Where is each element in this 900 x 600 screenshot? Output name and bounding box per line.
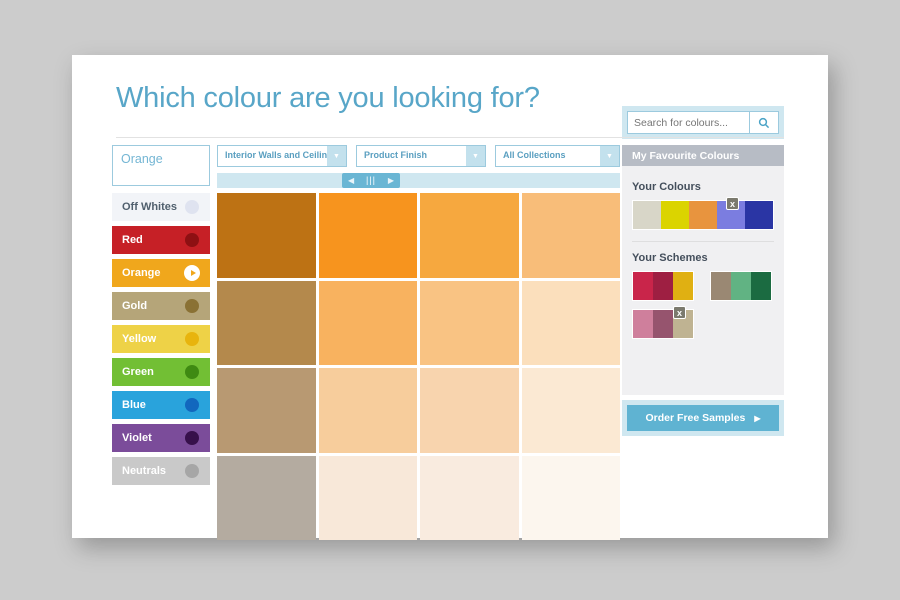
scheme-colour-swatch <box>633 272 653 300</box>
arrow-right-icon[interactable]: ▶ <box>388 177 394 185</box>
remove-scheme-button[interactable]: x <box>673 306 686 319</box>
order-free-samples-label: Order Free Samples <box>646 412 746 424</box>
dropdown-collections[interactable]: All Collections ▼ <box>495 145 620 167</box>
favourite-colour-swatch[interactable] <box>689 201 717 229</box>
colour-swatch[interactable] <box>420 193 519 278</box>
header: Which colour are you looking for? <box>116 80 784 142</box>
remove-colour-button[interactable]: x <box>726 197 739 210</box>
category-colour-dot <box>185 200 199 214</box>
category-item-violet[interactable]: Violet <box>112 424 210 452</box>
your-colours-strip[interactable] <box>632 200 774 230</box>
category-item-blue[interactable]: Blue <box>112 391 210 419</box>
category-colour-dot <box>185 233 199 247</box>
colour-swatch[interactable] <box>522 193 621 278</box>
scheme-colour-swatch <box>673 272 693 300</box>
category-item-gold[interactable]: Gold <box>112 292 210 320</box>
colour-swatch[interactable] <box>319 281 418 366</box>
colour-swatch[interactable] <box>420 281 519 366</box>
category-item-green[interactable]: Green <box>112 358 210 386</box>
category-item-label: Neutrals <box>122 465 166 477</box>
colour-category-list: Off WhitesRedOrangeGoldYellowGreenBlueVi… <box>112 193 210 490</box>
dropdown-product-finish-label: Product Finish <box>364 150 427 160</box>
favourites-panel: My Favourite Colours Your Colours x Your… <box>622 145 784 395</box>
favourite-colour-swatch[interactable] <box>661 201 689 229</box>
category-item-label: Green <box>122 366 154 378</box>
grid-scrollbar-handle[interactable]: ◀ ||| ▶ <box>342 173 400 188</box>
category-item-label: Yellow <box>122 333 156 345</box>
dropdown-room-type[interactable]: Interior Walls and Ceilings ▼ <box>217 145 347 167</box>
scheme-colour-swatch <box>633 310 653 338</box>
dropdown-collections-label: All Collections <box>503 150 566 160</box>
arrow-right-icon: ▶ <box>754 414 760 423</box>
colour-swatch[interactable] <box>217 193 316 278</box>
category-colour-dot <box>185 332 199 346</box>
category-item-label: Gold <box>122 300 147 312</box>
filter-bar: Interior Walls and Ceilings ▼ Product Fi… <box>217 145 620 167</box>
header-divider <box>116 137 784 138</box>
scheme-colour-swatch <box>751 272 771 300</box>
category-item-label: Blue <box>122 399 146 411</box>
dropdown-product-finish[interactable]: Product Finish ▼ <box>356 145 486 167</box>
category-item-label: Orange <box>122 267 161 279</box>
your-schemes-heading: Your Schemes <box>632 252 708 264</box>
search-input[interactable] <box>627 111 750 134</box>
order-free-samples-button[interactable]: Order Free Samples ▶ <box>627 405 779 431</box>
category-item-orange[interactable]: Orange <box>112 259 210 287</box>
category-colour-dot <box>185 464 199 478</box>
category-item-label: Violet <box>122 432 152 444</box>
colour-grid <box>217 193 620 540</box>
search-button[interactable] <box>750 111 779 134</box>
search-icon <box>758 117 770 129</box>
page-card: Which colour are you looking for? Orange… <box>72 55 828 538</box>
search-area <box>622 106 784 139</box>
scrollbar-grip-icon: ||| <box>366 176 376 185</box>
order-samples-area: Order Free Samples ▶ <box>622 400 784 436</box>
scheme-colour-swatch <box>653 272 673 300</box>
scheme-swatch[interactable] <box>632 271 694 301</box>
category-colour-dot <box>185 431 199 445</box>
chevron-down-icon: ▼ <box>327 146 346 166</box>
colour-swatch[interactable] <box>217 456 316 541</box>
category-colour-dot <box>185 398 199 412</box>
colour-swatch[interactable] <box>217 368 316 453</box>
scheme-colour-swatch <box>711 272 731 300</box>
favourite-colour-swatch[interactable] <box>633 201 661 229</box>
colour-swatch[interactable] <box>319 193 418 278</box>
scheme-colour-swatch <box>653 310 673 338</box>
category-item-red[interactable]: Red <box>112 226 210 254</box>
category-item-label: Red <box>122 234 143 246</box>
colour-swatch[interactable] <box>522 368 621 453</box>
favourites-panel-title: My Favourite Colours <box>632 150 739 162</box>
category-colour-dot <box>185 365 199 379</box>
play-icon <box>184 265 200 281</box>
category-item-off-whites[interactable]: Off Whites <box>112 193 210 221</box>
chevron-down-icon: ▼ <box>600 146 619 166</box>
favourites-divider <box>632 241 774 242</box>
colour-swatch[interactable] <box>217 281 316 366</box>
category-item-neutrals[interactable]: Neutrals <box>112 457 210 485</box>
colour-swatch[interactable] <box>420 456 519 541</box>
your-colours-heading: Your Colours <box>632 181 701 193</box>
category-item-yellow[interactable]: Yellow <box>112 325 210 353</box>
category-colour-dot <box>185 299 199 313</box>
page-title: Which colour are you looking for? <box>116 82 540 115</box>
colour-swatch[interactable] <box>522 456 621 541</box>
dropdown-room-type-label: Interior Walls and Ceilings <box>225 150 338 160</box>
category-item-label: Off Whites <box>122 201 177 213</box>
scheme-colour-swatch <box>731 272 751 300</box>
active-colour-label: Orange <box>121 152 163 166</box>
colour-swatch[interactable] <box>522 281 621 366</box>
colour-swatch[interactable] <box>319 368 418 453</box>
favourites-panel-header: My Favourite Colours <box>622 145 784 166</box>
active-colour-label-box: Orange <box>112 145 210 186</box>
colour-swatch[interactable] <box>319 456 418 541</box>
favourite-colour-swatch[interactable] <box>745 201 773 229</box>
grid-scrollbar-track[interactable]: ◀ ||| ▶ <box>217 173 620 188</box>
colour-swatch[interactable] <box>420 368 519 453</box>
scheme-swatch[interactable] <box>710 271 772 301</box>
arrow-left-icon[interactable]: ◀ <box>348 177 354 185</box>
chevron-down-icon: ▼ <box>466 146 485 166</box>
